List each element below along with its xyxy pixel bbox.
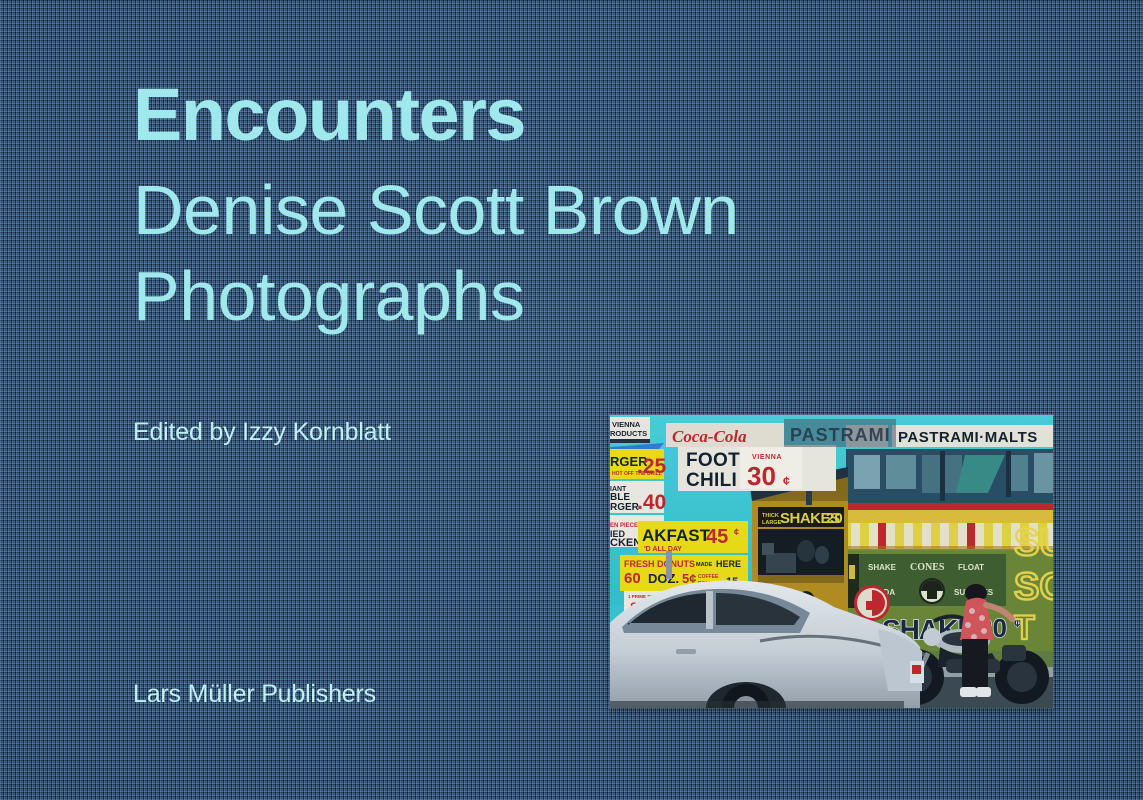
subtitle-author-line: Denise Scott Brown [133, 174, 739, 246]
title-block: Encounters Denise Scott Brown Photograph… [133, 78, 739, 332]
editor-credit: Edited by Izzy Kornblatt [133, 418, 391, 447]
publisher-name: Lars Müller Publishers [133, 680, 376, 709]
subtitle-photographs: Photographs [133, 260, 739, 332]
cover-photograph: PASTRAMI·MALTS [610, 415, 1053, 708]
book-cover: Encounters Denise Scott Brown Photograph… [0, 0, 1143, 800]
page-title: Encounters [133, 78, 739, 152]
